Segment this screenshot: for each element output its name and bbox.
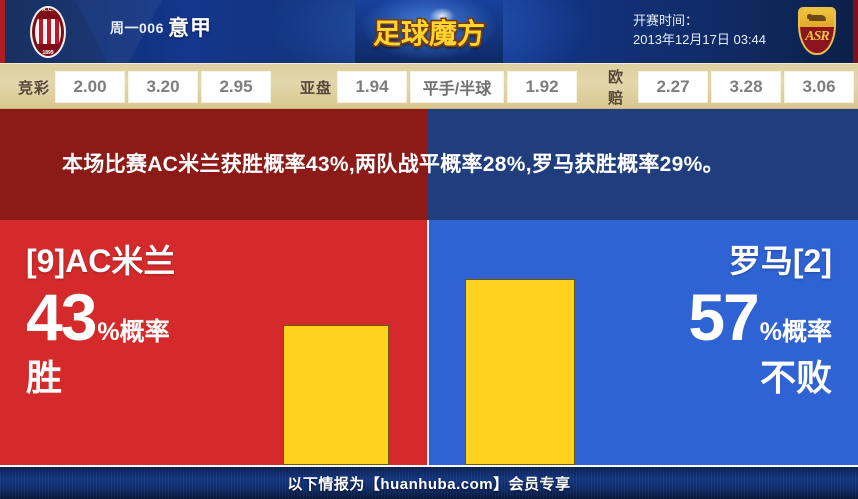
roma-crest-shield: ASR <box>798 7 836 55</box>
home-probability-value: 43 <box>26 282 95 352</box>
odds-label-asian-handicap: 亚盘 <box>300 77 332 98</box>
away-probability-row: 57 %概率 <box>562 282 832 352</box>
home-team-name: [9]AC米兰 <box>26 242 276 280</box>
logo-text: 足球魔方 <box>355 12 503 52</box>
odds-group-jingcai: 竞彩 2.00 3.20 2.95 <box>18 64 275 110</box>
home-probability-bar <box>283 325 389 465</box>
roma-crest-top-band <box>800 9 834 27</box>
odds-cell-euro-away[interactable]: 3.06 <box>785 72 853 102</box>
ac-milan-crest: A.C. 1899 <box>22 5 74 59</box>
odds-cell-jingcai-home[interactable]: 2.00 <box>56 72 124 102</box>
match-prediction-card: A.C. 1899 周一006 意甲 足球魔方 开赛时间： 2013年12月17… <box>0 0 858 499</box>
home-probability-row: 43 %概率 <box>26 282 276 352</box>
prediction-summary-text: 本场比赛AC米兰获胜概率43%,两队战平概率28%,罗马获胜概率29%。 <box>0 109 858 220</box>
home-outcome-label: 胜 <box>26 356 276 400</box>
header-bar: A.C. 1899 周一006 意甲 足球魔方 开赛时间： 2013年12月17… <box>0 0 858 63</box>
membership-banner-text: 以下情报为【huanhuba.com】会员专享 <box>287 473 570 494</box>
milan-crest-bottom-text: 1899 <box>32 50 64 56</box>
odds-cell-euro-home[interactable]: 2.27 <box>639 72 707 102</box>
match-number: 周一006 <box>110 18 164 38</box>
away-probability-value: 57 <box>688 282 757 352</box>
home-team-info: [9]AC米兰 43 %概率 胜 <box>26 242 276 400</box>
roma-crest-monogram: ASR <box>800 29 834 45</box>
probability-comparison: [9]AC米兰 43 %概率 胜 罗马[2] 57 %概率 不败 <box>0 220 858 465</box>
odds-cell-jingcai-draw[interactable]: 3.20 <box>129 72 197 102</box>
header-right-edge <box>853 0 858 63</box>
odds-group-asian-handicap: 亚盘 1.94 平手/半球 1.92 <box>300 64 581 110</box>
prediction-summary-band: 本场比赛AC米兰获胜概率43%,两队战平概率28%,罗马获胜概率29%。 <box>0 109 858 220</box>
kickoff-label: 开赛时间： <box>633 11 766 30</box>
league-name: 意甲 <box>168 12 212 42</box>
milan-crest-stripes <box>35 11 61 53</box>
home-probability-unit: %概率 <box>97 312 169 348</box>
she-wolf-icon <box>807 13 829 24</box>
away-probability-unit: %概率 <box>760 312 832 348</box>
odds-cell-asian-home[interactable]: 1.94 <box>338 72 406 102</box>
odds-bar: 竞彩 2.00 3.20 2.95 亚盘 1.94 平手/半球 1.92 欧赔 … <box>0 63 858 109</box>
odds-cell-asian-handicap-line[interactable]: 平手/半球 <box>411 72 503 102</box>
kickoff-time: 2013年12月17日 03:44 <box>633 30 766 49</box>
membership-banner: 以下情报为【huanhuba.com】会员专享 <box>0 465 858 499</box>
odds-label-european: 欧赔 <box>608 66 633 108</box>
odds-label-jingcai: 竞彩 <box>18 77 50 98</box>
away-team-info: 罗马[2] 57 %概率 不败 <box>562 242 832 400</box>
away-probability-bar <box>465 279 575 465</box>
site-logo[interactable]: 足球魔方 <box>355 0 503 63</box>
header-left-edge <box>0 0 5 63</box>
as-roma-crest: ASR <box>790 5 842 59</box>
odds-cell-euro-draw[interactable]: 3.28 <box>712 72 780 102</box>
milan-crest-top-text: A.C. <box>32 7 64 13</box>
odds-cell-jingcai-away[interactable]: 2.95 <box>202 72 270 102</box>
odds-group-european: 欧赔 2.27 3.28 3.06 <box>608 64 858 110</box>
odds-cell-asian-away[interactable]: 1.92 <box>508 72 576 102</box>
away-outcome-label: 不败 <box>562 356 832 400</box>
away-team-name: 罗马[2] <box>562 242 832 280</box>
panel-divider <box>427 220 429 465</box>
milan-crest-oval: A.C. 1899 <box>30 6 66 58</box>
kickoff-info: 开赛时间： 2013年12月17日 03:44 <box>633 11 766 49</box>
